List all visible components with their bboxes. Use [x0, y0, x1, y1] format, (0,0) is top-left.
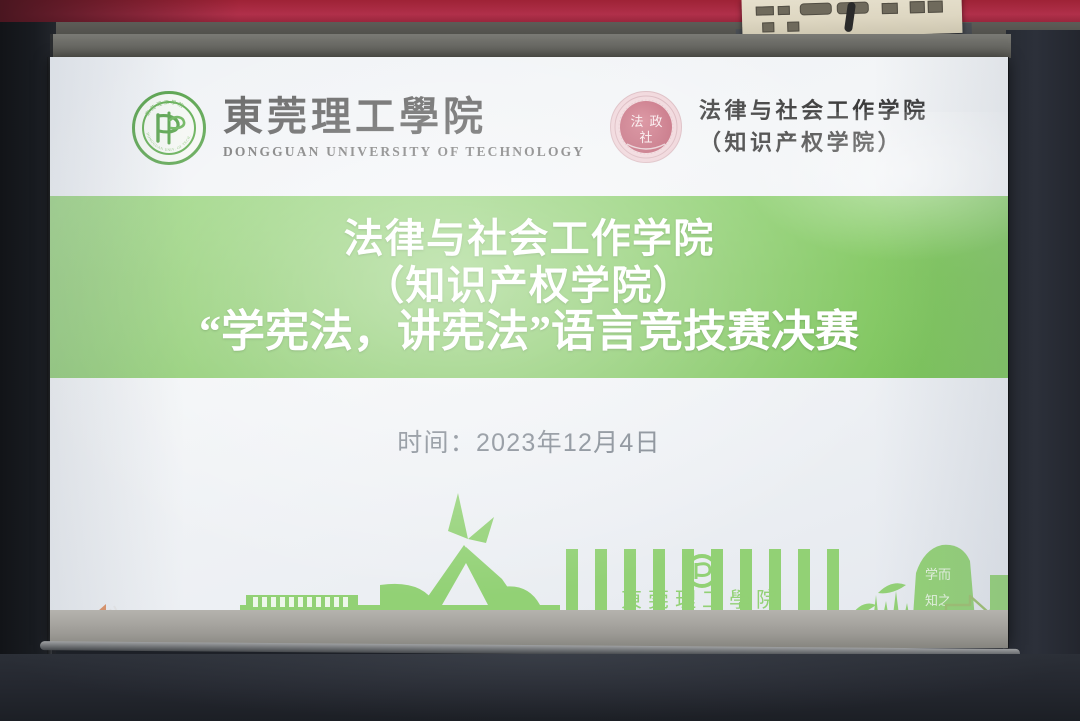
slide-header: 東莞理工學院 DONGGUAN UNIV. OF TECH. 東莞理 [50, 85, 1008, 197]
slide-date-text: 时间：2023年12月4日 [397, 429, 661, 457]
svg-text:政: 政 [649, 114, 662, 129]
svg-text:法: 法 [630, 114, 643, 129]
monument-text-1: 学而 [925, 567, 951, 582]
university-monogram-icon [152, 111, 186, 145]
university-name-en: DONGGUAN UNIVERSITY OF TECHNOLOGY [223, 144, 585, 160]
college-name-line2: （知识产权学院） [699, 127, 929, 159]
gate-text: 東莞理工學院 [621, 588, 783, 612]
banner-title-line1: 法律与社会工作学院 [344, 218, 715, 260]
wall-below-screen-highlight [0, 654, 1080, 721]
seal-characters: 法 政 社 [611, 92, 681, 162]
wall-right-panel [1006, 30, 1080, 721]
projection-screen: 東莞理工學院 DONGGUAN UNIV. OF TECH. 東莞理 [50, 57, 1008, 642]
banner-title-line3: “学宪法，讲宪法”语言竞技赛决赛 [199, 309, 859, 356]
dongguan-university-seal-icon: 東莞理工學院 DONGGUAN UNIV. OF TECH. [132, 91, 206, 165]
meeting-room-scene: 東莞理工學院 DONGGUAN UNIV. OF TECH. 東莞理 [0, 0, 1080, 721]
university-name-cn: 東莞理工學院 [223, 97, 585, 137]
screen-housing [50, 34, 1011, 58]
slide-title-banner: 法律与社会工作学院 （知识产权学院） “学宪法，讲宪法”语言竞技赛决赛 [50, 196, 1008, 378]
college-name-line1: 法律与社会工作学院 [699, 95, 929, 127]
svg-text:社: 社 [639, 130, 652, 145]
fazhengshe-seal-icon: 法 政 社 [610, 91, 682, 163]
university-name-text: 東莞理工學院 DONGGUAN UNIVERSITY OF TECHNOLOGY [223, 97, 585, 160]
college-logo-block: 法 政 社 法律与社会工作学院 （知识产权学院） [610, 91, 929, 163]
university-logo-block: 東莞理工學院 DONGGUAN UNIV. OF TECH. 東莞理 [132, 91, 585, 165]
slide-date-row: 时间：2023年12月4日 [50, 423, 1008, 459]
banner-title-line2: （知识产权学院） [364, 265, 694, 307]
college-name-text: 法律与社会工作学院 （知识产权学院） [699, 95, 929, 159]
